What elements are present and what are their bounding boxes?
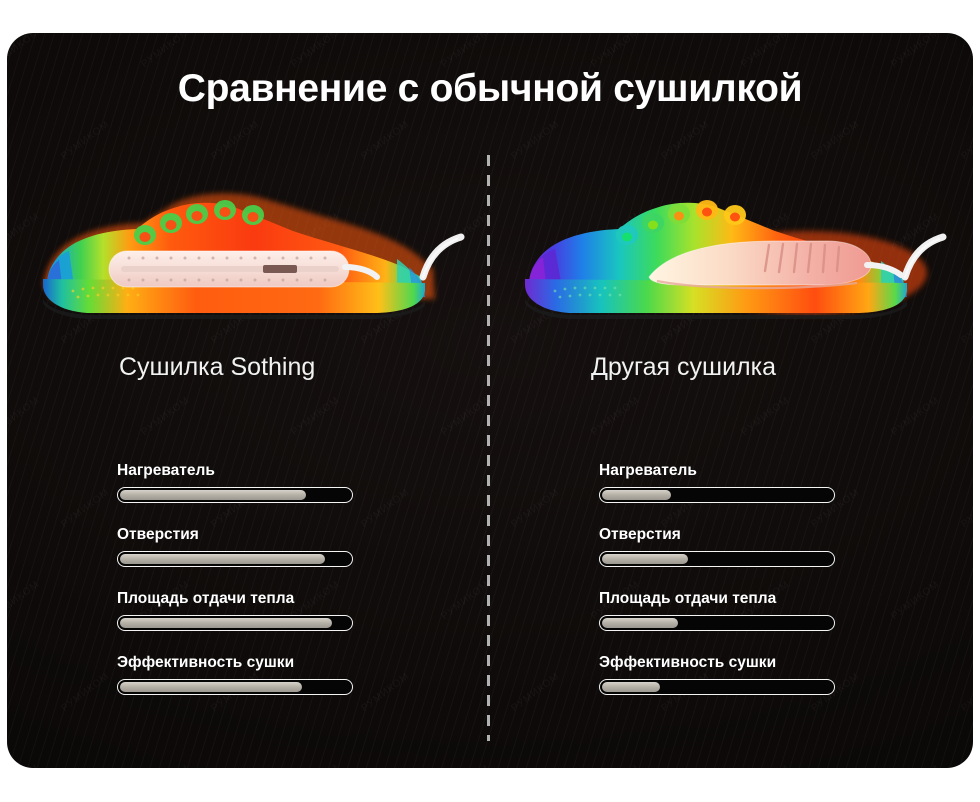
watermark-text: РУМИКОМ (659, 119, 711, 162)
metric-row: Площадь отдачи тепла (117, 590, 474, 631)
watermark-text: РУМИКОМ (59, 119, 111, 162)
watermark-text: РУМИКОМ (889, 33, 941, 70)
watermark-text: РУМИКОМ (359, 119, 411, 162)
page-title: Сравнение с обычной сушилкой (7, 67, 973, 111)
metric-row: Нагреватель (117, 462, 474, 503)
metric-progress-fill (120, 490, 307, 500)
watermark-text: РУМИКОМ (959, 119, 973, 162)
metric-row: Нагреватель (599, 462, 956, 503)
metric-label: Эффективность сушки (599, 654, 956, 672)
watermark-text: РУМИКОМ (589, 33, 641, 70)
metric-progress-fill (602, 490, 672, 500)
thermal-shoe-sothing (25, 173, 474, 331)
metric-label: Эффективность сушки (117, 654, 474, 672)
watermark-text: РУМИКОМ (439, 763, 491, 768)
watermark-text: РУМИКОМ (959, 487, 973, 530)
metric-row: Отверстия (599, 526, 956, 567)
watermark-text: РУМИКОМ (209, 119, 261, 162)
watermark-text: РУМИКОМ (889, 763, 941, 768)
metric-progress-bar (599, 679, 835, 695)
metric-progress-bar (117, 487, 353, 503)
column-divider (487, 155, 490, 741)
metric-progress-fill (602, 618, 679, 628)
watermark-text: РУМИКОМ (739, 763, 791, 768)
metric-progress-fill (120, 554, 326, 564)
watermark-text: РУМИКОМ (139, 763, 191, 768)
column-caption-left: Сушилка Sothing (25, 353, 474, 382)
watermark-text: РУМИКОМ (959, 671, 973, 714)
watermark-text: РУМИКОМ (7, 33, 42, 70)
watermark-text: РУМИКОМ (289, 763, 341, 768)
metric-label: Отверстия (117, 526, 474, 544)
comparison-column-right: Другая сушилка НагревательОтверстияПлоща… (507, 173, 956, 695)
metric-label: Нагреватель (599, 462, 956, 480)
metric-row: Площадь отдачи тепла (599, 590, 956, 631)
metric-row: Эффективность сушки (117, 654, 474, 695)
metric-progress-bar (117, 551, 353, 567)
watermark-text: РУМИКОМ (809, 119, 861, 162)
metric-label: Нагреватель (117, 462, 474, 480)
watermark-text: РУМИКОМ (509, 119, 561, 162)
dryer-device (109, 251, 377, 287)
metric-progress-bar (117, 615, 353, 631)
column-caption-right: Другая сушилка (507, 353, 956, 382)
watermark-text: РУМИКОМ (289, 33, 341, 70)
comparison-column-left: Сушилка Sothing НагревательОтверстияПлощ… (25, 173, 474, 695)
metric-label: Отверстия (599, 526, 956, 544)
metric-progress-fill (120, 682, 302, 692)
metric-progress-bar (599, 615, 835, 631)
watermark-text: РУМИКОМ (439, 33, 491, 70)
metric-progress-bar (117, 679, 353, 695)
metric-row: Эффективность сушки (599, 654, 956, 695)
metric-label: Площадь отдачи тепла (117, 590, 474, 608)
metric-label: Площадь отдачи тепла (599, 590, 956, 608)
thermal-shoe-hot-icon (25, 173, 474, 331)
thermal-shoe-other (507, 173, 956, 331)
watermark-text: РУМИКОМ (959, 303, 973, 346)
watermark-text: РУМИКОМ (739, 33, 791, 70)
watermark-text: РУМИКОМ (139, 33, 191, 70)
metric-row: Отверстия (117, 526, 474, 567)
metric-progress-fill (120, 618, 333, 628)
watermark-text: РУМИКОМ (7, 763, 42, 768)
metric-progress-fill (602, 554, 688, 564)
metrics-list-left: НагревательОтверстияПлощадь отдачи тепла… (25, 462, 474, 695)
power-cable (423, 237, 461, 277)
metric-progress-bar (599, 487, 835, 503)
thermal-shoe-cold-icon (507, 173, 956, 331)
comparison-panel: РУМИКОМРУМИКОМРУМИКОМРУМИКОМРУМИКОМРУМИК… (7, 33, 973, 768)
metric-progress-fill (602, 682, 660, 692)
watermark-text: РУМИКОМ (589, 763, 641, 768)
metrics-list-right: НагревательОтверстияПлощадь отдачи тепла… (507, 462, 956, 695)
metric-progress-bar (599, 551, 835, 567)
